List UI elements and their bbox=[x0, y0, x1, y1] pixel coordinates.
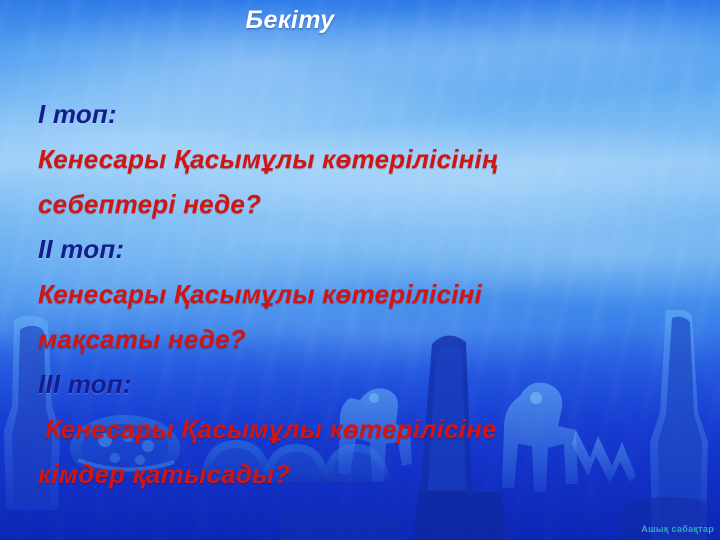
slide-canvas: Бекіту I топ: Кенесары Қасымұлы көтерілі… bbox=[0, 0, 720, 540]
group-label-1: I топ: bbox=[38, 92, 688, 137]
watermark-label: Ашық сабақтар bbox=[641, 524, 714, 534]
page-title: Бекіту bbox=[0, 6, 720, 35]
group-question-2-line-1: Кенесары Қасымұлы көтерілісіні bbox=[38, 272, 688, 317]
group-label-3: III топ: bbox=[38, 362, 688, 407]
group-question-2-line-2: мақсаты неде? bbox=[38, 317, 688, 362]
group-question-1-line-2: себептері неде? bbox=[38, 182, 688, 227]
group-question-3-line-2: кімдер қатысады? bbox=[38, 452, 688, 497]
group-question-3-line-1: Кенесары Қасымұлы көтерілісіне bbox=[38, 407, 688, 452]
group-question-1-line-1: Кенесары Қасымұлы көтерілісінің bbox=[38, 137, 688, 182]
task-list: I топ: Кенесары Қасымұлы көтерілісінің с… bbox=[38, 92, 688, 497]
group-label-2: II топ: bbox=[38, 227, 688, 272]
